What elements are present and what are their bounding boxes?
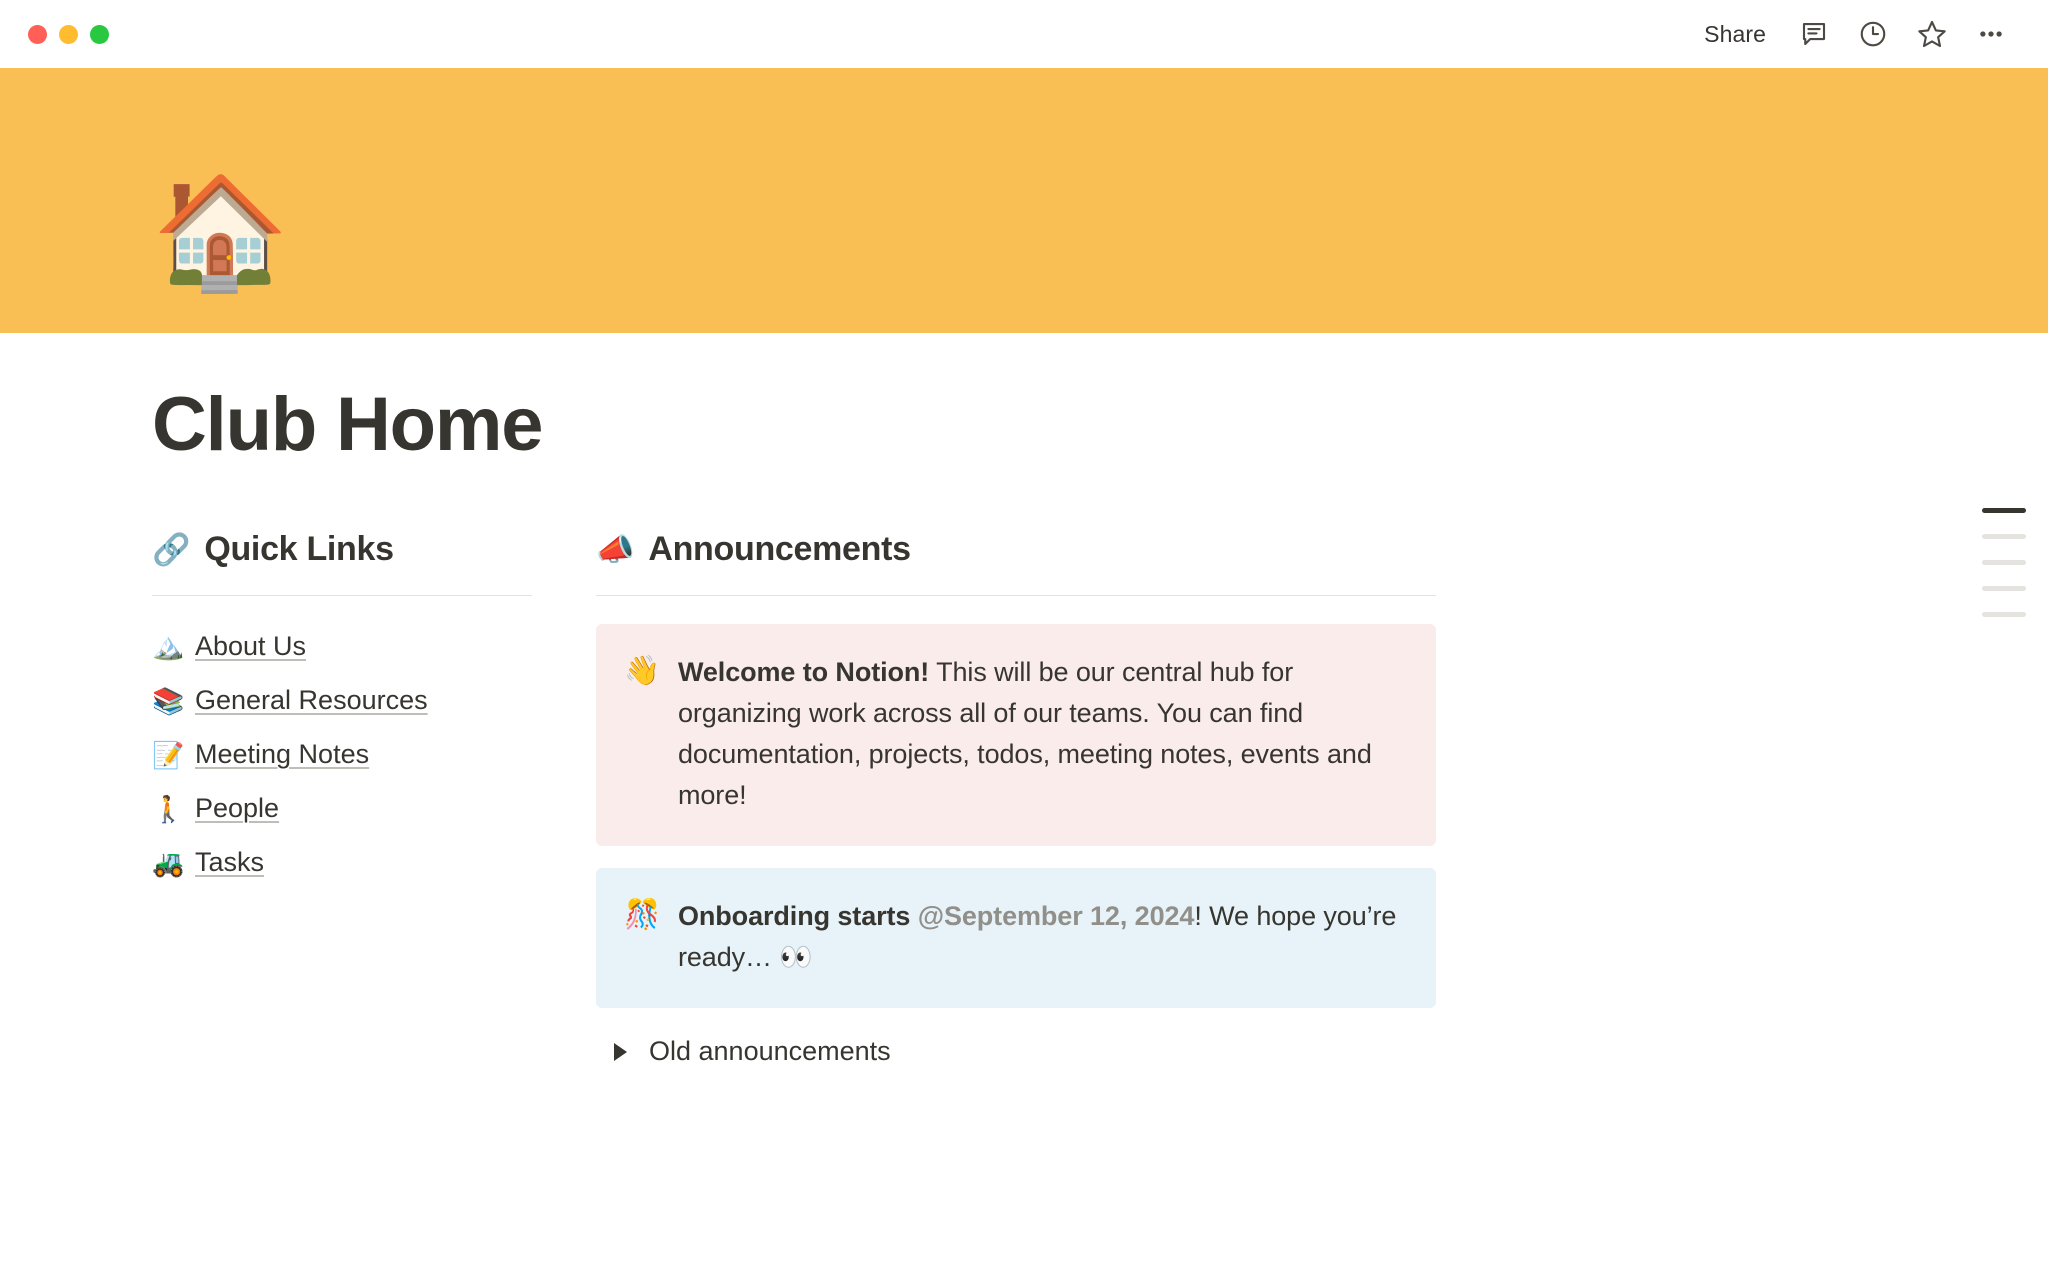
welcome-callout[interactable]: 👋 Welcome to Notion! This will be our ce… [596, 624, 1436, 846]
tractor-icon: 🚜 [152, 850, 182, 876]
onboarding-callout[interactable]: 🎊 Onboarding starts @September 12, 2024!… [596, 868, 1436, 1008]
top-bar: Share [0, 0, 2048, 68]
person-walking-icon: 🚶 [152, 796, 182, 822]
toc-bar[interactable] [1982, 534, 2026, 539]
history-icon[interactable] [1856, 17, 1890, 51]
quick-link-label[interactable]: About Us [195, 629, 306, 664]
chevron-right-icon[interactable] [614, 1043, 627, 1061]
quick-links-list: 🏔️ About Us 📚 General Resources 📝 Meetin… [152, 624, 532, 885]
quick-link-about-us[interactable]: 🏔️ About Us [152, 624, 532, 669]
waving-hand-icon: 👋 [624, 652, 658, 816]
quick-link-people[interactable]: 🚶 People [152, 786, 532, 831]
page-cover[interactable] [0, 68, 2048, 333]
page-icon[interactable]: 🏠 [152, 178, 289, 288]
quick-link-label[interactable]: General Resources [195, 683, 428, 718]
toc-bar[interactable] [1982, 586, 2026, 591]
quick-link-meeting-notes[interactable]: 📝 Meeting Notes [152, 732, 532, 777]
quick-link-label[interactable]: Meeting Notes [195, 737, 369, 772]
onboarding-callout-lead: Onboarding starts [678, 901, 910, 931]
toc-bar[interactable] [1982, 560, 2026, 565]
toc-bar-active[interactable] [1982, 508, 2026, 513]
quick-links-heading-label: Quick Links [204, 528, 393, 571]
toc-bar[interactable] [1982, 612, 2026, 617]
maximize-window-button[interactable] [90, 25, 109, 44]
mountain-icon: 🏔️ [152, 633, 182, 659]
quick-link-label[interactable]: People [195, 791, 279, 826]
memo-icon: 📝 [152, 742, 182, 768]
column-list: 🔗 Quick Links 🏔️ About Us 📚 General Reso… [0, 528, 2048, 1073]
announcements-column: 📣 Announcements 👋 Welcome to Notion! Thi… [596, 528, 1436, 1073]
close-window-button[interactable] [28, 25, 47, 44]
welcome-callout-text: Welcome to Notion! This will be our cent… [678, 652, 1406, 816]
star-icon[interactable] [1915, 17, 1949, 51]
top-bar-actions: Share [1698, 17, 2018, 52]
quick-links-heading: 🔗 Quick Links [152, 528, 532, 571]
more-icon[interactable] [1974, 17, 2008, 51]
table-of-contents-indicator[interactable] [1982, 508, 2026, 617]
page-content: Club Home 🔗 Quick Links 🏔️ About Us 📚 [0, 333, 2048, 1073]
onboarding-callout-text: Onboarding starts @September 12, 2024! W… [678, 896, 1406, 978]
announcements-divider [596, 595, 1436, 596]
notion-window: Share [0, 0, 2048, 1280]
minimize-window-button[interactable] [59, 25, 78, 44]
announcements-heading: 📣 Announcements [596, 528, 1436, 571]
quick-link-general-resources[interactable]: 📚 General Resources [152, 678, 532, 723]
announcements-heading-label: Announcements [648, 528, 910, 571]
link-icon: 🔗 [152, 534, 190, 565]
window-controls [28, 25, 109, 44]
books-icon: 📚 [152, 688, 182, 714]
quick-links-column: 🔗 Quick Links 🏔️ About Us 📚 General Reso… [152, 528, 532, 1073]
page-title[interactable]: Club Home [0, 381, 2048, 468]
quick-links-divider [152, 595, 532, 596]
announcements-callouts: 👋 Welcome to Notion! This will be our ce… [596, 624, 1436, 1008]
old-announcements-label[interactable]: Old announcements [649, 1036, 891, 1067]
megaphone-icon: 📣 [596, 534, 634, 565]
comment-icon[interactable] [1797, 17, 1831, 51]
date-mention[interactable]: @September 12, 2024 [918, 901, 1195, 931]
confetti-icon: 🎊 [624, 896, 658, 978]
share-button[interactable]: Share [1698, 17, 1772, 52]
quick-link-label[interactable]: Tasks [195, 845, 264, 880]
quick-link-tasks[interactable]: 🚜 Tasks [152, 840, 532, 885]
old-announcements-toggle[interactable]: Old announcements [596, 1030, 1436, 1073]
welcome-callout-lead: Welcome to Notion! [678, 657, 929, 687]
